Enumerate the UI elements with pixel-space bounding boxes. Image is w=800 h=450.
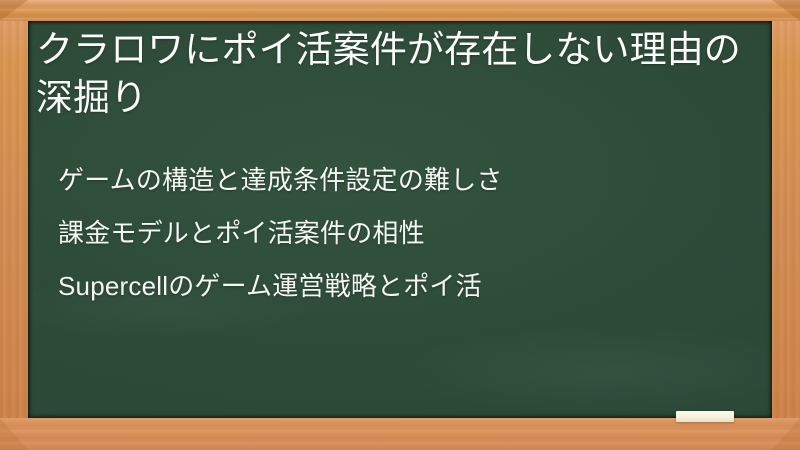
chalk-stick-icon <box>676 411 734 422</box>
board-title: クラロワにポイ活案件が存在しない理由の深掘り <box>36 26 752 122</box>
board-surface: クラロワにポイ活案件が存在しない理由の深掘り ゲームの構造と達成条件設定の難しさ… <box>28 21 772 418</box>
wood-frame-top <box>0 0 800 21</box>
list-item: 課金モデルとポイ活案件の相性 <box>58 207 758 260</box>
chalkboard-graphic: クラロワにポイ活案件が存在しない理由の深掘り ゲームの構造と達成条件設定の難しさ… <box>0 0 800 450</box>
list-item: ゲームの構造と達成条件設定の難しさ <box>58 154 758 207</box>
list-item: Supercellのゲーム運営戦略とポイ活 <box>58 260 758 313</box>
wood-frame-bottom-ledge <box>0 418 800 450</box>
board-topic-list: ゲームの構造と達成条件設定の難しさ 課金モデルとポイ活案件の相性 Superce… <box>58 154 758 313</box>
